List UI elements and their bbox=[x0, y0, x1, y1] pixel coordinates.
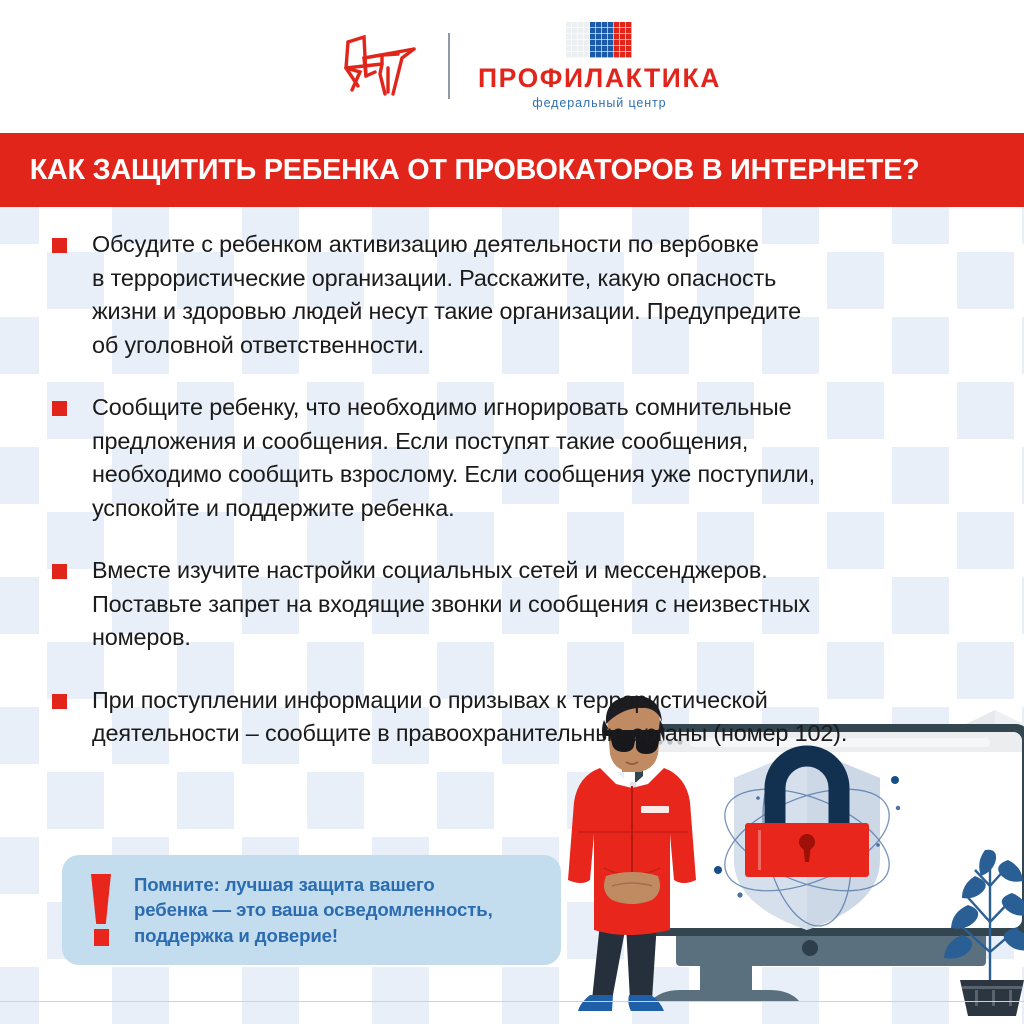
header: ПРОФИЛАКТИКА федеральный центр bbox=[0, 0, 1024, 133]
list-item: Обсудите с ребенком активизацию деятельн… bbox=[48, 228, 988, 362]
list-item-text: Сообщите ребенку, что необходимо игнорир… bbox=[92, 391, 988, 525]
russian-flag-pixel-grid bbox=[566, 22, 632, 60]
list-item: Сообщите ребенку, что необходимо игнорир… bbox=[48, 391, 988, 525]
list-item-text: Вместе изучите настройки социальных сете… bbox=[92, 554, 988, 655]
list-item: Вместе изучите настройки социальных сете… bbox=[48, 554, 988, 655]
floor-line bbox=[0, 1001, 1024, 1002]
list-item-text: При поступлении информации о призывах к … bbox=[92, 684, 988, 751]
title-banner: КАК ЗАЩИТИТЬ РЕБЕНКА ОТ ПРОВОКАТОРОВ В И… bbox=[0, 133, 1024, 207]
bullet-square-icon bbox=[52, 238, 67, 253]
reminder-callout: Помните: лучшая защита вашего ребенка — … bbox=[62, 855, 561, 965]
list-item: При поступлении информации о призывах к … bbox=[48, 684, 988, 751]
logo-row: ПРОФИЛАКТИКА федеральный центр bbox=[330, 22, 721, 110]
profilaktika-logo: ПРОФИЛАКТИКА федеральный центр bbox=[478, 22, 721, 110]
brand-name: ПРОФИЛАКТИКА bbox=[478, 65, 721, 92]
list-item-text: Обсудите с ребенком активизацию деятельн… bbox=[92, 228, 988, 362]
chair-line-logo bbox=[330, 28, 426, 104]
reminder-callout-text: Помните: лучшая защита вашего ребенка — … bbox=[134, 872, 493, 949]
bullet-square-icon bbox=[52, 564, 67, 579]
infographic-page: ПРОФИЛАКТИКА федеральный центр КАК ЗАЩИТ… bbox=[0, 0, 1024, 1024]
exclamation-mark-icon bbox=[86, 874, 116, 946]
advice-list: Обсудите с ребенком активизацию деятельн… bbox=[48, 228, 988, 780]
bullet-square-icon bbox=[52, 694, 67, 709]
brand-subtitle: федеральный центр bbox=[532, 96, 666, 110]
page-title: КАК ЗАЩИТИТЬ РЕБЕНКА ОТ ПРОВОКАТОРОВ В И… bbox=[0, 154, 919, 187]
bullet-square-icon bbox=[52, 401, 67, 416]
logo-divider bbox=[448, 33, 450, 99]
